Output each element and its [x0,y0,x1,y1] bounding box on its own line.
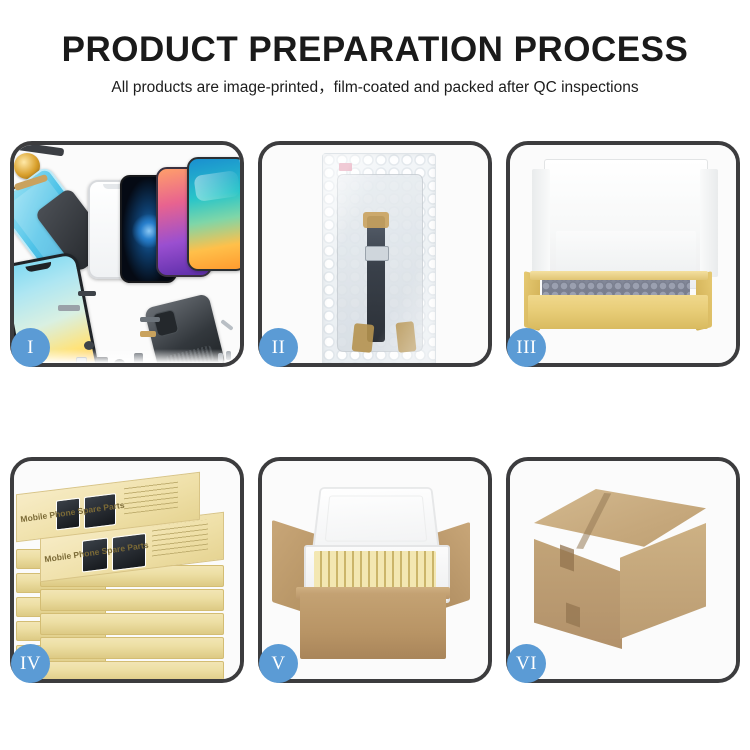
step-badge-6: VI [507,644,546,683]
page-subtitle: All products are image-printed，film-coat… [0,80,750,96]
bubble-wrap-bag [322,153,436,363]
step-image-6 [510,461,736,679]
step-image-2 [262,145,488,363]
small-part [78,291,96,296]
step-panel-4[interactable]: Mobile Phone Spare Parts Mobile Phone Sp… [10,457,244,683]
carton-front-face [534,539,622,649]
ribbon-foot-left [352,323,375,353]
small-part [140,331,156,337]
step-image-5 [262,461,488,679]
step-image-3 [510,145,736,363]
qc-sticker [339,163,352,171]
carton-front [300,593,446,659]
carton-tape-upper [560,544,574,571]
page-title: PRODUCT PREPARATION PROCESS [0,32,750,67]
step-panel-1[interactable]: I [10,141,244,367]
stacked-box [40,661,224,679]
product-preparation-page: PRODUCT PREPARATION PROCESS All products… [0,0,750,750]
step-image-4: Mobile Phone Spare Parts Mobile Phone Sp… [14,461,240,679]
connector-chip [365,246,389,261]
small-part [220,319,233,331]
step-panel-3[interactable]: III [506,141,740,367]
connector-gold [363,212,389,228]
kraft-box-front [528,295,708,329]
step-badge-1: I [11,328,50,367]
page-header: PRODUCT PREPARATION PROCESS All products… [0,0,750,96]
step-panel-6[interactable]: VI [506,457,740,683]
step-badge-4: IV [11,644,50,683]
display-ribbon [367,216,385,342]
small-part [58,305,80,311]
step-badge-3: III [507,328,546,367]
step-panel-5[interactable]: V [258,457,492,683]
stacked-box [40,613,224,635]
ribbon-foot-right [395,321,416,353]
small-part [140,317,160,322]
step-image-1 [14,145,240,363]
phone-teal-gradient [187,157,240,271]
process-steps-grid: I II [10,141,740,683]
step-badge-5: V [259,644,298,683]
foam-box-lid [312,487,441,553]
kraft-box-rim [530,271,708,280]
stacked-box [40,589,224,611]
stacked-box [40,637,224,659]
box-lid-right-flap [700,169,718,277]
box-lid-left-flap [532,169,550,277]
step-badge-2: II [259,328,298,367]
step-panel-2[interactable]: II [258,141,492,367]
